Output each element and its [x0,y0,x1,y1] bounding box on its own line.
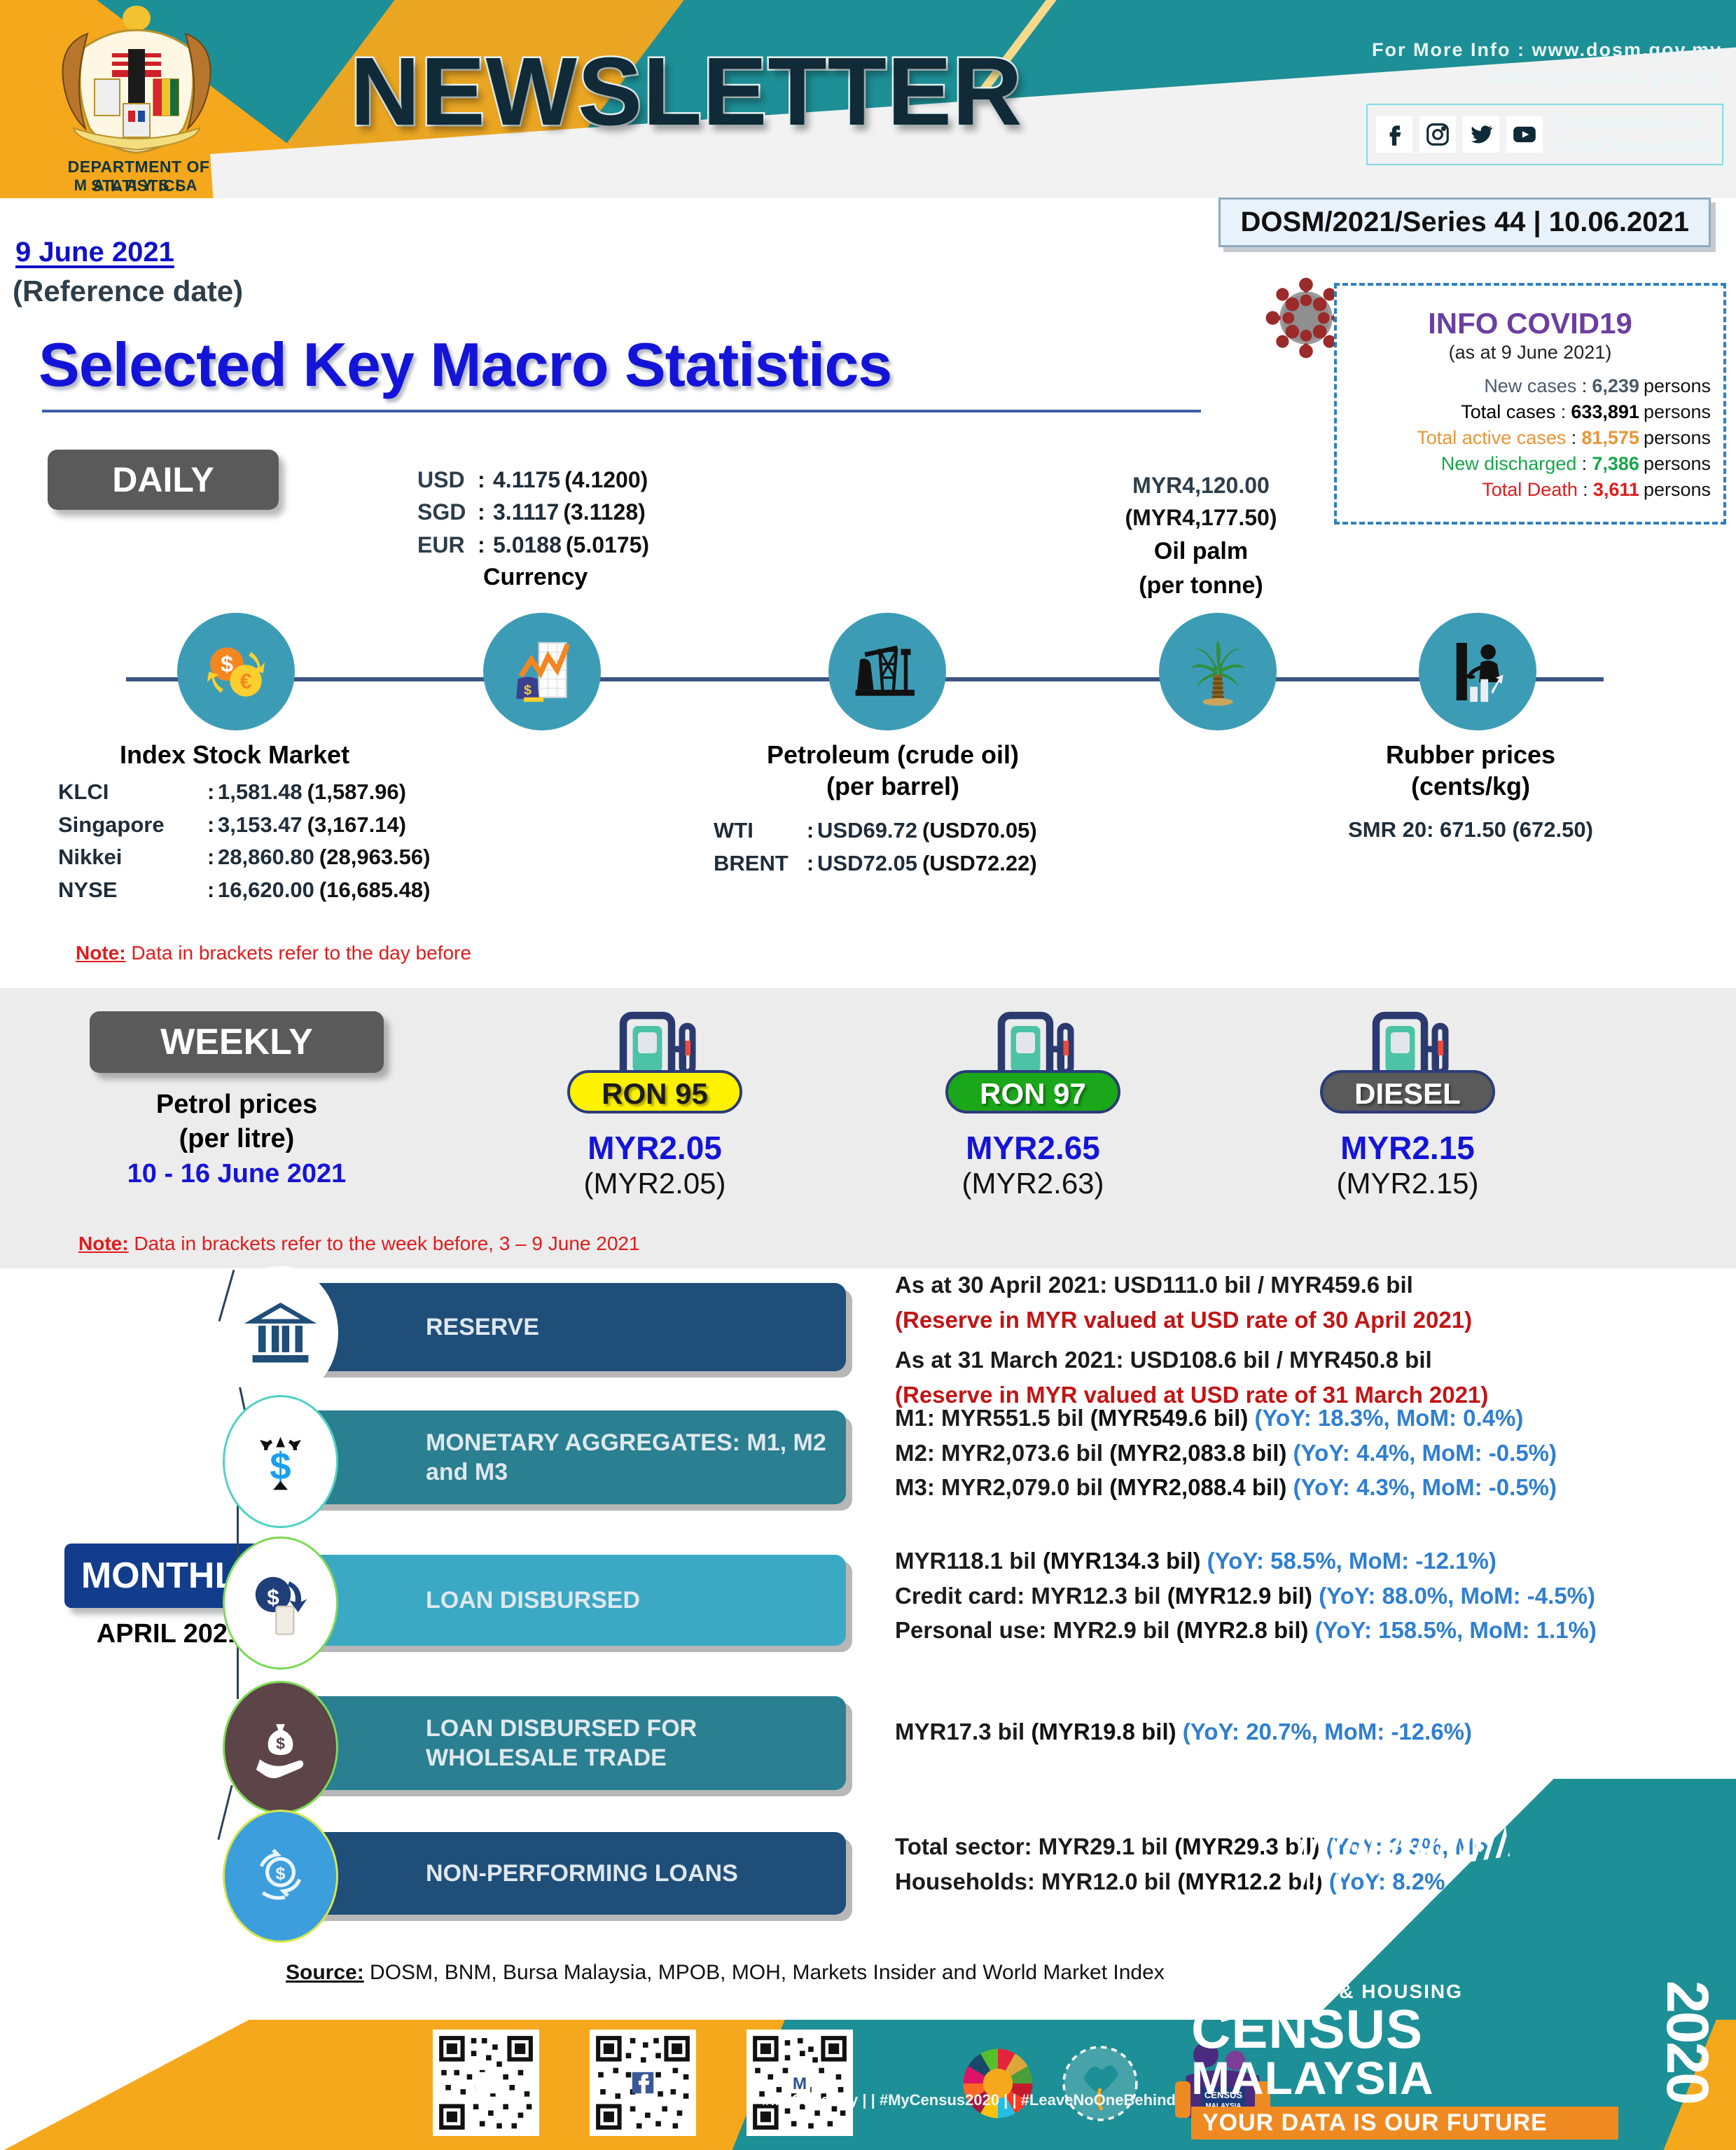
loan-percent: (YoY: 58.5%, MoM: -12.1%) [1207,1548,1497,1574]
wholesale-percent: (YoY: 20.7%, MoM: -12.6%) [1183,1719,1472,1745]
rubber-value: SMR 20: 671.50 (672.50) [1254,817,1688,842]
petroleum-value: USD72.05 [817,847,917,880]
oil-palm-name: Oil palm [1092,534,1310,569]
fuel-diesel: DIESEL MYR2.15 (MYR2.15) [1292,1003,1523,1200]
currency-row: SGD : 3.1117 (3.1128) [417,496,649,528]
org-line-2: MALAYSIA [27,176,251,195]
stock-name: KLCI [58,776,204,809]
monetary-percent: (YoY: 4.3%, MoM: -0.5%) [1293,1474,1557,1500]
npl-value: Households: MYR12.0 bil [895,1868,1171,1894]
weekly-caption: Petrol prices (per litre) 10 - 16 June 2… [90,1088,384,1191]
census-tagline: YOUR DATA IS OUR FUTURE [1191,2107,1618,2139]
covid-row: New cases : 6,239 persons [1337,373,1723,399]
npl-icon: $ [223,1810,338,1943]
currency-value: 5.0188 [493,529,562,561]
monetary-previous: (MYR2,083.8 bil) [1109,1440,1286,1466]
petroleum-previous: (USD70.05) [922,814,1037,847]
covid-row: Total Death : 3,611 persons [1337,477,1723,503]
covid-colon: : [1576,453,1592,475]
petroleum-row: WTI : USD69.72 (USD70.05) [714,814,1103,847]
weekly-caption-line2: (per litre) [90,1122,384,1156]
more-info-line-1: For More Info : www.dosm.gov.my [1372,36,1722,64]
stock-title: Index Stock Market [39,739,431,770]
stock-value: 16,620.00 [218,874,314,907]
currency-code: EUR [417,529,478,561]
loan-line: Personal use: MYR2.9 bil (MYR2.8 bil) (Y… [895,1613,1597,1648]
currency-exchange-icon: $ € [177,613,295,730]
covid-value: 7,386 [1592,453,1644,475]
stock-previous: (16,685.48) [319,874,431,907]
covid-label: New cases [1366,375,1576,397]
weekly-caption-line1: Petrol prices [90,1088,384,1122]
pump-wrap: DIESEL [1292,1003,1523,1108]
stock-previous: (3,167.14) [307,809,406,842]
covid-rows: New cases : 6,239 persons Total cases : … [1337,373,1723,503]
loan-percent: (YoY: 158.5%, MoM: 1.1%) [1315,1617,1597,1643]
facebook-icon[interactable] [1376,116,1412,153]
stock-colon: : [204,809,218,842]
qr-code-mycensus[interactable]: M [747,2030,853,2136]
page-header: DEPARTMENT OF STATISTICS MALAYSIA NEWSLE… [0,0,1736,198]
stock-value: 28,860.80 [218,841,314,874]
wholesale-line: MYR17.3 bil (MYR19.8 bil) (YoY: 20.7%, M… [895,1714,1472,1749]
stock-value: 1,581.48 [218,776,303,809]
fuel-previous: (MYR2.05) [539,1167,770,1200]
svg-text:€: € [240,670,252,693]
fuel-price: MYR2.65 [917,1129,1148,1167]
stock-previous: (28,963.56) [319,841,431,874]
oil-palm-unit: (per tonne) [1092,569,1310,603]
svg-text:$: $ [276,1734,285,1752]
petroleum-title: Petroleum (crude oil) [683,739,1103,770]
covid-unit: persons [1644,375,1711,397]
petroleum-name: WTI [714,814,803,847]
covid-row: New discharged : 7,386 persons [1337,451,1723,477]
stock-previous: (1,587.96) [307,776,406,809]
daily-badge: DAILY [48,450,279,510]
fuel-previous: (MYR2.15) [1292,1167,1523,1200]
covid-value: 6,239 [1592,375,1644,397]
svg-text:$: $ [275,1864,285,1883]
reserve-line-1: As at 30 April 2021: USD111.0 bil / MYR4… [895,1268,1488,1303]
covid-unit: persons [1644,453,1711,475]
social-links: @StatsMalaysia @MyCensus2020 [1366,104,1723,165]
daily-note-text: Data in brackets refer to the day before [131,942,471,964]
wholesale-value: MYR17.3 bil [895,1719,1025,1745]
currency-colon: : [478,464,493,496]
source-line: Source: DOSM, BNM, Bursa Malaysia, MPOB,… [286,1961,1165,1985]
fuel-tag: DIESEL [1320,1070,1495,1114]
covid-colon: : [1566,427,1581,449]
currency-row: USD : 4.1175 (4.1200) [417,464,649,496]
stock-row: KLCI : 1,581.48 (1,587.96) [58,776,431,809]
page-title: Selected Key Macro Statistics [39,329,891,401]
monetary-line: M3: MYR2,079.0 bil (MYR2,088.4 bil) (YoY… [895,1470,1557,1505]
svg-text:$: $ [221,651,233,677]
more-info-line-2: www.mycensus.gov.my [1372,64,1722,91]
handle-mycensus: @MyCensus2020 [1554,134,1714,158]
covid-value: 81,575 [1581,427,1644,449]
fuel-previous: (MYR2.63) [917,1167,1148,1200]
census-line-2: CENSUS [1191,2003,1709,2055]
loan-line: Credit card: MYR12.3 bil (MYR12.9 bil) (… [895,1579,1597,1614]
oil-palm-tree-icon [1159,613,1277,730]
stock-row: NYSE : 16,620.00 (16,685.48) [58,874,431,907]
weekly-note: Note: Data in brackets refer to the week… [78,1233,640,1255]
pump-wrap: RON 97 [917,1003,1148,1108]
stock-colon: : [204,841,218,874]
loan-value: Credit card: MYR12.3 bil [895,1583,1161,1609]
sdg-wheel-icon [957,2042,1039,2125]
covid-label: New discharged [1366,453,1576,475]
weekly-badge: WEEKLY [90,1011,384,1073]
monthly-bar-label: RESERVE [286,1283,846,1371]
loan-value: MYR118.1 bil [895,1548,1036,1574]
monetary-text: M1: MYR551.5 bil (MYR549.6 bil) (YoY: 18… [895,1401,1557,1505]
covid-unit: persons [1644,427,1711,449]
series-badge: DOSM/2021/Series 44 | 10.06.2021 [1218,197,1711,247]
wholesale-text: MYR17.3 bil (MYR19.8 bil) (YoY: 20.7%, M… [895,1714,1472,1749]
reserve-text: As at 30 April 2021: USD111.0 bil / MYR4… [895,1268,1488,1412]
currency-previous: (3.1128) [563,496,645,528]
currency-label: Currency [483,564,649,591]
petroleum-previous: (USD72.22) [922,847,1037,880]
weekly-note-text: Data in brackets refer to the week befor… [134,1233,639,1254]
petroleum-row: BRENT : USD72.05 (USD72.22) [714,847,1103,880]
census-line-3: MALAYSIA [1191,2055,1709,2101]
oil-palm-value: MYR4,120.00 [1092,469,1310,501]
stock-name: Singapore [58,809,204,842]
fuel-tag: RON 97 [945,1070,1120,1114]
covid-value: 633,891 [1571,401,1644,423]
rubber-tapping-icon [1419,613,1536,730]
daily-note: Note: Data in brackets refer to the day … [76,942,471,964]
monetary-previous: (MYR549.6 bil) [1090,1405,1249,1431]
monthly-bar-label: LOAN DISBURSED FOR WHOLESALE TRADE [286,1696,846,1790]
monthly-bar-label: MONETARY AGGREGATES: M1, M2 and M3 [286,1410,846,1504]
oil-palm-previous: (MYR4,177.50) [1092,501,1310,534]
petroleum-colon: : [803,814,817,847]
fuel-tag: RON 95 [567,1070,742,1114]
monetary-value: M3: MYR2,079.0 bil [895,1474,1103,1500]
weekly-caption-dates: 10 - 16 June 2021 [90,1157,384,1191]
title-divider [42,410,1201,412]
petroleum-value: USD69.72 [817,814,917,847]
mystatsday-logo-icon [1059,2042,1141,2125]
daily-note-label: Note: [76,942,126,964]
covid-info-box: INFO COVID19 (as at 9 June 2021) New cas… [1334,283,1726,525]
covid-label: Total active cases [1356,427,1566,449]
covid-title: INFO COVID19 [1337,307,1723,340]
stock-value: 3,153.47 [218,809,303,842]
svg-text:$: $ [524,682,532,698]
covid-unit: persons [1644,401,1711,423]
currency-code: SGD [417,496,478,528]
monetary-value: M1: MYR551.5 bil [895,1405,1084,1431]
covid-label: Total cases [1345,401,1555,423]
loan-previous: (MYR2.8 bil) [1176,1617,1309,1643]
loan-percent: (YoY: 88.0%, MoM: -4.5%) [1319,1583,1595,1609]
loan-previous: (MYR12.9 bil) [1167,1583,1312,1609]
stock-colon: : [204,874,218,907]
handle-stats-malaysia: @StatsMalaysia [1554,111,1714,134]
monthly-bar-label: NON-PERFORMING LOANS [286,1832,846,1915]
stock-chart-icon: $ [483,613,601,730]
reserve-line-2: (Reserve in MYR valued at USD rate of 30… [895,1303,1488,1338]
pump-wrap: RON 95 [539,1003,770,1108]
footer-hashtags: #MyStatsDay | | #MyCensus2020 | | #Leave… [762,2091,1176,2109]
currency-value: 3.1117 [493,496,559,528]
loan-text: MYR118.1 bil (MYR134.3 bil) (YoY: 58.5%,… [895,1544,1597,1648]
money-arrows-icon: $ [223,1395,338,1528]
census-logo: POPULATION & HOUSING CENSUS MALAYSIA 202… [1191,1981,1709,2139]
money-bag-hand-icon: $ [223,1681,338,1814]
loan-value: Personal use: MYR2.9 bil [895,1617,1169,1643]
bank-icon [223,1266,338,1399]
reference-date: 9 June 2021 [15,237,174,268]
covid-value: 3,611 [1593,479,1644,501]
covid-row: Total active cases : 81,575 persons [1337,425,1723,451]
covid-colon: : [1578,479,1593,501]
stock-name: NYSE [58,874,204,907]
monetary-line: M1: MYR551.5 bil (MYR549.6 bil) (YoY: 18… [895,1401,1557,1436]
covid-row: Total cases : 633,891 persons [1337,399,1723,425]
footer-white-wedge [0,2020,251,2150]
wholesale-previous: (MYR19.8 bil) [1031,1719,1176,1745]
fuel-ron95: RON 95 MYR2.05 (MYR2.05) [539,1003,770,1200]
monthly-bar-label: LOAN DISBURSED [286,1555,846,1646]
weekly-note-label: Note: [78,1233,129,1254]
loan-icon: $ [223,1537,338,1670]
covid-subtitle: (as at 9 June 2021) [1337,342,1723,363]
currency-colon: : [478,529,493,561]
stock-name: Nikkei [58,841,204,874]
petroleum-unit: (per barrel) [683,770,1103,802]
covid-colon: : [1555,401,1571,423]
monetary-percent: (YoY: 18.3%, MoM: 0.4%) [1254,1405,1523,1431]
rubber-title: Rubber prices [1254,739,1688,770]
rubber-group: Rubber prices (cents/kg) SMR 20: 671.50 … [1254,739,1688,842]
reference-date-label: (Reference date) [13,275,243,308]
petroleum-group: Petroleum (crude oil) (per barrel) WTI :… [683,739,1103,880]
monetary-previous: (MYR2,088.4 bil) [1109,1474,1286,1500]
fuel-ron97: RON 97 MYR2.65 (MYR2.63) [917,1003,1148,1200]
currency-block: USD : 4.1175 (4.1200) SGD : 3.1117 (3.11… [417,464,649,591]
newsletter-title: NEWSLETTER [350,36,1023,148]
currency-colon: : [478,496,493,528]
instagram-icon[interactable] [1419,116,1456,153]
currency-previous: (5.0175) [566,529,649,561]
currency-row: EUR : 5.0188 (5.0175) [417,529,649,561]
connector-line [217,1785,232,1840]
source-label: Source: [286,1961,364,1984]
fuel-price: MYR2.15 [1292,1129,1523,1167]
loan-line: MYR118.1 bil (MYR134.3 bil) (YoY: 58.5%,… [895,1544,1597,1579]
stock-row: Nikkei : 28,860.80 (28,963.56) [58,841,431,874]
stock-colon: : [204,776,218,809]
qr-code-facebook[interactable] [590,2030,696,2136]
stock-row: Singapore : 3,153.47 (3,167.14) [58,809,431,842]
covid-colon: : [1576,375,1592,397]
more-info-block: For More Info : www.dosm.gov.my www.myce… [1372,36,1722,91]
currency-previous: (4.1200) [564,464,648,496]
twitter-icon[interactable] [1463,116,1499,153]
fuel-price: MYR2.05 [539,1129,770,1167]
npl-value: Total sector: MYR29.1 bil [895,1833,1168,1859]
malaysia-crest-icon [35,6,238,160]
monetary-percent: (YoY: 4.4%, MoM: -0.5%) [1293,1440,1557,1466]
census-year: 2020 [1662,1981,1712,2103]
youtube-icon[interactable] [1506,116,1543,153]
reserve-line-3: As at 31 March 2021: USD108.6 bil / MYR4… [895,1343,1488,1378]
monetary-line: M2: MYR2,073.6 bil (MYR2,083.8 bil) (YoY… [895,1436,1557,1471]
oil-palm-block: MYR4,120.00 (MYR4,177.50) Oil palm (per … [1092,469,1310,603]
monetary-value: M2: MYR2,073.6 bil [895,1440,1103,1466]
loan-previous: (MYR134.3 bil) [1043,1548,1201,1574]
covid-label: Total Death [1368,479,1578,501]
social-handles: @StatsMalaysia @MyCensus2020 [1554,111,1714,158]
index-stock-market-group: Index Stock Market KLCI : 1,581.48 (1,58… [39,739,431,906]
oil-rig-icon [828,613,946,730]
qr-code-dosm[interactable] [433,2030,539,2136]
connector-line [237,1501,239,1560]
covid-unit: persons [1644,479,1711,501]
currency-value: 4.1175 [493,464,560,496]
source-text: DOSM, BNM, Bursa Malaysia, MPOB, MOH, Ma… [370,1961,1165,1984]
petroleum-name: BRENT [714,847,803,880]
petroleum-colon: : [803,847,817,880]
currency-code: USD [417,464,478,496]
rubber-unit: (cents/kg) [1254,770,1688,802]
